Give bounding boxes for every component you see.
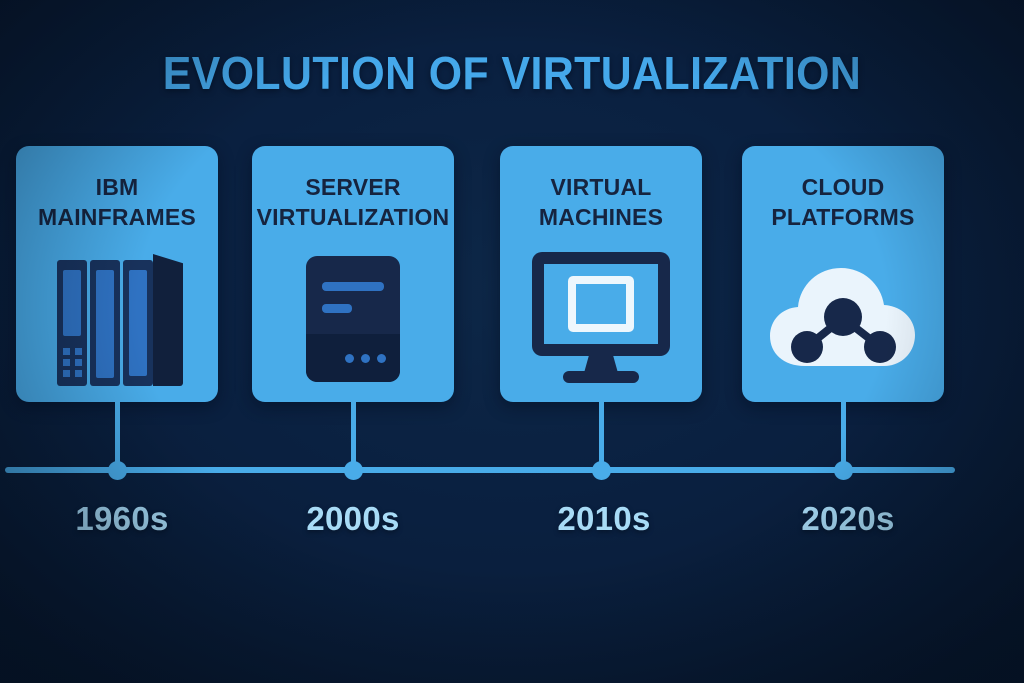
timeline-card-cloud-platforms[interactable]: CLOUD PLATFORMS	[742, 146, 944, 402]
timeline-connector-4	[841, 402, 846, 470]
mainframe-panel-2	[90, 260, 120, 386]
mainframe-side-panel	[153, 254, 183, 386]
mainframe-bar	[63, 270, 81, 336]
timeline-node-1[interactable]	[108, 461, 127, 480]
server-bar-short	[322, 304, 352, 313]
card-title: VIRTUAL MACHINES	[484, 172, 718, 233]
mainframe-led-grid	[63, 348, 83, 377]
mainframe-icon	[16, 250, 218, 390]
monitor-window	[568, 276, 634, 332]
mainframe-bar	[96, 270, 114, 378]
timeline-card-virtual-machines[interactable]: VIRTUAL MACHINES	[500, 146, 702, 402]
timeline-connector-1	[115, 402, 120, 470]
timeline-axis	[5, 467, 955, 473]
timeline-year-3: 2010s	[504, 500, 704, 538]
mainframe-bar	[129, 270, 147, 376]
monitor-screen	[544, 264, 658, 344]
cloud-node-top	[824, 298, 862, 336]
cloud-node-right	[864, 331, 896, 363]
card-title: IBM MAINFRAMES	[0, 172, 234, 233]
monitor-bezel	[532, 252, 670, 356]
monitor-icon	[500, 250, 702, 390]
mainframe-panel-1	[57, 260, 87, 386]
timeline-connector-3	[599, 402, 604, 470]
infographic-canvas: EVOLUTION OF VIRTUALIZATION IBM MAINFRAM…	[0, 0, 1024, 683]
card-title: SERVER VIRTUALIZATION	[236, 172, 470, 233]
timeline-node-4[interactable]	[834, 461, 853, 480]
timeline-card-mainframes[interactable]: IBM MAINFRAMES	[16, 146, 218, 402]
timeline-node-2[interactable]	[344, 461, 363, 480]
server-bar-long	[322, 282, 384, 291]
timeline-year-2: 2000s	[253, 500, 453, 538]
timeline-year-1: 1960s	[22, 500, 222, 538]
page-title: EVOLUTION OF VIRTUALIZATION	[36, 46, 988, 100]
timeline-year-4: 2020s	[748, 500, 948, 538]
timeline-card-server-virtualization[interactable]: SERVER VIRTUALIZATION	[252, 146, 454, 402]
timeline-connector-2	[351, 402, 356, 470]
server-icon	[252, 250, 454, 390]
monitor-window-inner	[576, 284, 626, 324]
mainframe-panel-3	[123, 260, 153, 386]
cloud-network-icon	[742, 250, 944, 390]
cloud-node-left	[791, 331, 823, 363]
timeline-node-3[interactable]	[592, 461, 611, 480]
card-title: CLOUD PLATFORMS	[726, 172, 960, 233]
server-status-dots	[345, 354, 386, 363]
monitor-stand-base	[563, 371, 639, 383]
